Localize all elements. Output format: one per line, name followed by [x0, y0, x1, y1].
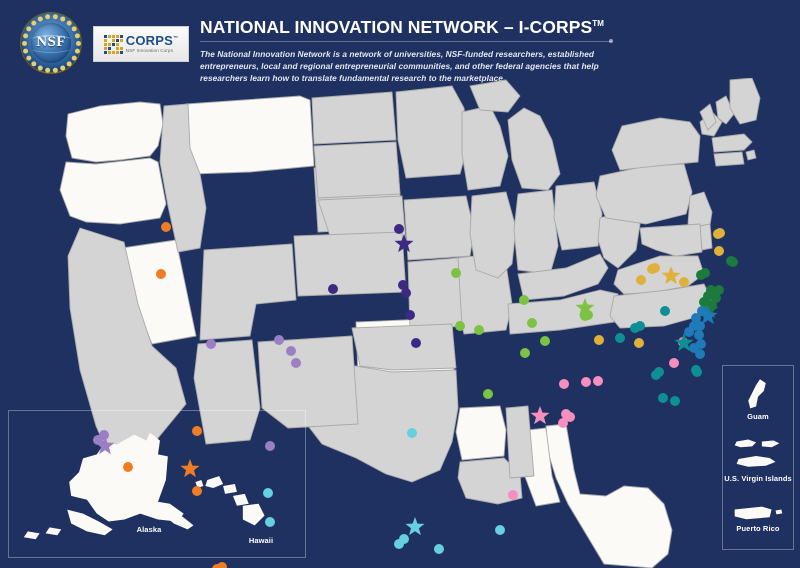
map-site-dot-marker[interactable]: [527, 318, 537, 328]
map-site-dot-marker[interactable]: [636, 275, 646, 285]
map-site-dot-marker[interactable]: [581, 377, 591, 387]
map-node-star-marker[interactable]: [95, 436, 115, 456]
map-node-star-marker[interactable]: [394, 234, 414, 254]
map-site-dot-marker[interactable]: [713, 229, 723, 239]
map-site-dot-marker[interactable]: [679, 277, 689, 287]
map-site-dot-marker[interactable]: [265, 441, 275, 451]
map-site-dot-marker[interactable]: [520, 348, 530, 358]
map-site-dot-marker[interactable]: [561, 409, 571, 419]
map-site-dot-marker[interactable]: [291, 358, 301, 368]
map-site-dot-marker[interactable]: [483, 389, 493, 399]
map-site-dot-marker[interactable]: [206, 339, 216, 349]
map-site-dot-marker[interactable]: [669, 358, 679, 368]
map-site-dot-marker[interactable]: [594, 335, 604, 345]
map-node-star-marker[interactable]: [674, 333, 694, 353]
map-site-dot-marker[interactable]: [593, 376, 603, 386]
map-site-dot-marker[interactable]: [559, 379, 569, 389]
map-site-dot-marker[interactable]: [635, 321, 645, 331]
map-site-dot-marker[interactable]: [650, 263, 660, 273]
map-site-dot-marker[interactable]: [695, 349, 705, 359]
map-site-dot-marker[interactable]: [508, 490, 518, 500]
map-site-dot-marker[interactable]: [714, 246, 724, 256]
map-node-star-marker[interactable]: [661, 266, 681, 286]
map-site-dot-marker[interactable]: [615, 333, 625, 343]
map-site-dot-marker[interactable]: [540, 336, 550, 346]
map-site-dot-marker[interactable]: [692, 367, 702, 377]
map-site-dot-marker[interactable]: [161, 222, 171, 232]
map-site-dot-marker[interactable]: [714, 285, 724, 295]
map-site-dot-marker[interactable]: [700, 268, 710, 278]
map-site-dot-marker[interactable]: [407, 428, 417, 438]
map-site-dot-marker[interactable]: [399, 534, 409, 544]
map-site-dot-marker[interactable]: [660, 306, 670, 316]
map-node-star-marker[interactable]: [530, 406, 550, 426]
map-site-dot-marker[interactable]: [411, 338, 421, 348]
map-site-dot-marker[interactable]: [192, 426, 202, 436]
map-site-dot-marker[interactable]: [192, 486, 202, 496]
poster-canvas: NSF CORPS™ NSF Innovation Corps NATIONAL…: [0, 0, 800, 568]
map-site-dot-marker[interactable]: [123, 462, 133, 472]
map-site-dot-marker[interactable]: [495, 525, 505, 535]
map-site-dot-marker[interactable]: [263, 488, 273, 498]
map-site-dot-marker[interactable]: [728, 257, 738, 267]
map-site-dot-marker[interactable]: [328, 284, 338, 294]
map-site-dot-marker[interactable]: [670, 396, 680, 406]
map-site-dot-marker[interactable]: [394, 224, 404, 234]
map-site-dot-marker[interactable]: [265, 517, 275, 527]
map-node-star-marker[interactable]: [405, 517, 425, 537]
map-site-dot-marker[interactable]: [212, 564, 222, 568]
map-site-dot-marker[interactable]: [274, 335, 284, 345]
map-site-dot-marker[interactable]: [156, 269, 166, 279]
map-site-dot-marker[interactable]: [401, 288, 411, 298]
map-site-dot-marker[interactable]: [658, 393, 668, 403]
map-site-dot-marker[interactable]: [405, 310, 415, 320]
map-site-dot-marker[interactable]: [451, 268, 461, 278]
map-site-dot-marker[interactable]: [634, 338, 644, 348]
map-site-dot-marker[interactable]: [580, 311, 590, 321]
map-site-dot-marker[interactable]: [474, 325, 484, 335]
map-site-dot-marker[interactable]: [455, 321, 465, 331]
map-site-dot-marker[interactable]: [654, 367, 664, 377]
map-site-dot-marker[interactable]: [434, 544, 444, 554]
map-node-star-marker[interactable]: [180, 459, 200, 479]
map-site-dot-marker[interactable]: [286, 346, 296, 356]
map-markers-layer: [0, 0, 800, 568]
map-site-dot-marker[interactable]: [519, 295, 529, 305]
